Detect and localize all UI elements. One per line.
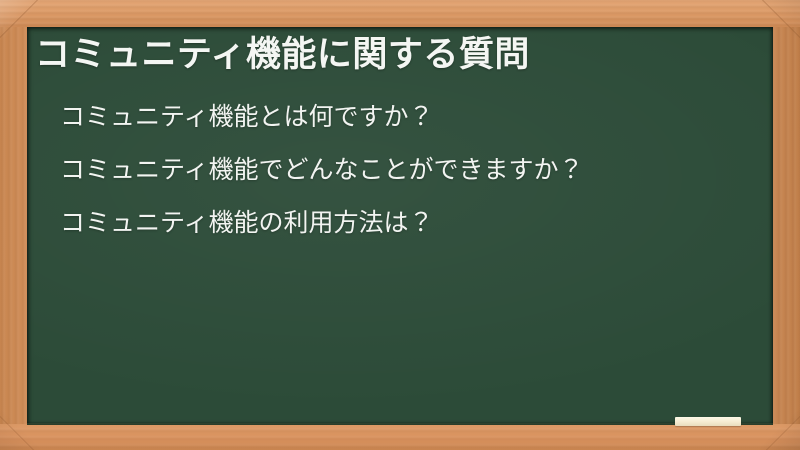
question-list: コミュニティ機能とは何ですか？ コミュニティ機能でどんなことができますか？ コミ… — [60, 105, 584, 264]
chalkboard-surface: コミュニティ機能に関する質問 コミュニティ機能とは何ですか？ コミュニティ機能で… — [27, 27, 773, 425]
board-title: コミュニティ機能に関する質問 — [35, 33, 530, 77]
question-item-3: コミュニティ機能の利用方法は？ — [60, 211, 584, 236]
frame-bottom-ledge — [0, 424, 800, 450]
chalkboard-content: コミュニティ機能に関する質問 コミュニティ機能とは何ですか？ コミュニティ機能で… — [27, 27, 773, 425]
chalkboard-slide: コミュニティ機能に関する質問 コミュニティ機能とは何ですか？ コミュニティ機能で… — [0, 0, 800, 450]
chalk-stick-icon — [675, 417, 741, 426]
frame-top-rail — [0, 0, 800, 27]
question-item-2: コミュニティ機能でどんなことができますか？ — [60, 158, 584, 183]
board-bottom-shadow — [27, 423, 773, 425]
question-item-1: コミュニティ機能とは何ですか？ — [60, 105, 584, 130]
